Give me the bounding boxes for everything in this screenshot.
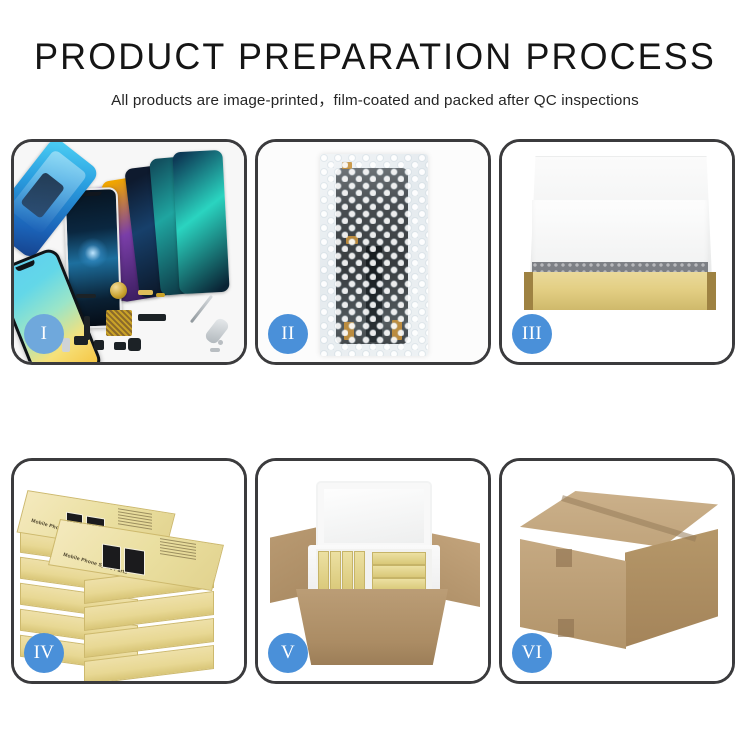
part-speaker-bar (76, 294, 96, 298)
packed-box-flat-2 (372, 565, 426, 578)
step-badge-label: IV (34, 642, 55, 664)
part-gold-contact (156, 293, 165, 297)
step-badge-label: I (41, 323, 48, 345)
packed-boxes-area (316, 549, 432, 593)
step-badge-1: I (24, 314, 64, 354)
part-camera-module (128, 338, 141, 351)
process-step-panel-4: Mobile Phone Spare Parts Mobile Phone Sp… (11, 458, 247, 684)
carton-tape-lower (558, 619, 574, 637)
part-bracket-c (114, 342, 126, 350)
box-window-front-b (124, 547, 145, 575)
step-badge-label: V (281, 642, 295, 664)
step-badge-3: III (512, 314, 552, 354)
carton-body (296, 589, 448, 665)
packed-box-4 (354, 551, 365, 593)
screwdriver-shaft-icon (190, 295, 213, 324)
page-title: PRODUCT PREPARATION PROCESS (11, 38, 739, 77)
screwdriver-handle-icon (203, 316, 230, 345)
step-badge-2: II (268, 314, 308, 354)
part-flex-cable-right (138, 314, 166, 321)
part-ic-grid (106, 310, 132, 336)
process-step-grid: I II (11, 139, 739, 684)
part-screw-set (210, 348, 220, 352)
phone-front-cyan (172, 150, 229, 294)
step-badge-5: V (268, 633, 308, 673)
part-bracket-a (74, 336, 88, 345)
part-vibration-motor (110, 282, 127, 299)
process-step-panel-3: III (499, 139, 735, 365)
page-subtitle: All products are image-printed，film-coat… (0, 88, 750, 110)
bubble-texture (320, 154, 428, 356)
carton-tape-upper (556, 549, 572, 567)
part-sim-tray (62, 338, 70, 352)
header: PRODUCT PREPARATION PROCESS All products… (0, 0, 750, 110)
part-flex-connector (138, 290, 153, 295)
packed-box-2 (330, 551, 341, 593)
process-step-panel-2: II (255, 139, 491, 365)
box-corner-left (524, 272, 533, 310)
packed-box-1 (318, 551, 329, 593)
step-badge-4: IV (24, 633, 64, 673)
process-step-panel-5: V (255, 458, 491, 684)
packed-box-flat-1 (372, 552, 426, 565)
process-step-panel-1: I (11, 139, 247, 365)
box-corner-right (707, 272, 716, 310)
packed-box-3 (342, 551, 353, 593)
part-screw-single (218, 340, 223, 345)
styrofoam-lid (316, 481, 432, 551)
step-badge-6: VI (512, 633, 552, 673)
infographic-page: PRODUCT PREPARATION PROCESS All products… (0, 0, 750, 750)
box-front-panel (524, 272, 716, 310)
step-badge-label: II (281, 323, 294, 345)
phone-notch (15, 260, 35, 272)
step-badge-label: VI (522, 642, 543, 664)
part-bracket-b (94, 340, 104, 350)
box-window-front-a (102, 543, 121, 570)
bubble-wrap-package (320, 154, 428, 356)
process-step-panel-6: VI (499, 458, 735, 684)
step-badge-label: III (522, 323, 542, 345)
